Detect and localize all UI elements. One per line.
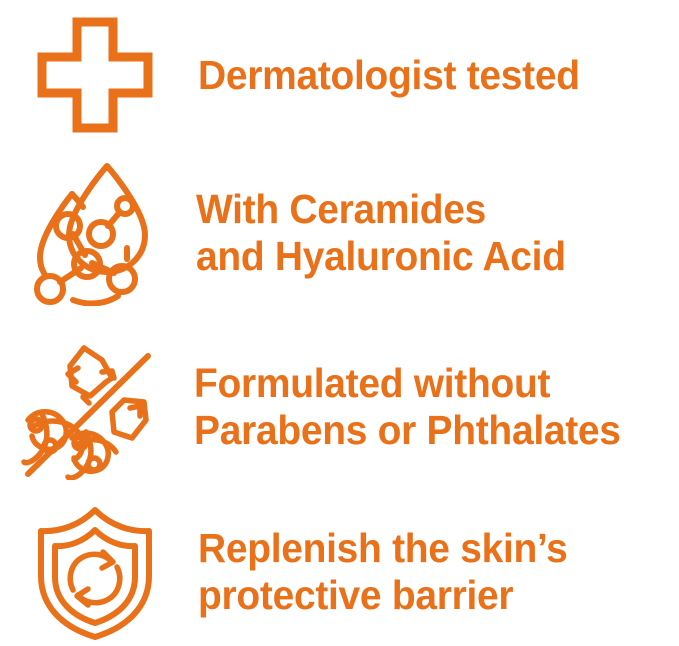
feature-row-formulated: Formulated without Parabens or Phthalate… bbox=[0, 322, 679, 492]
feature-row-barrier: Replenish the skin’s protective barrier bbox=[0, 497, 679, 646]
icon-slot-ceramides bbox=[0, 160, 190, 306]
feature-row-ceramides: With Ceramides and Hyaluronic Acid bbox=[0, 150, 679, 315]
icon-slot-formulated bbox=[0, 334, 190, 480]
medical-cross-icon bbox=[36, 16, 154, 134]
feature-label-ceramides: With Ceramides and Hyaluronic Acid bbox=[196, 186, 655, 280]
droplet-molecule-icon bbox=[28, 160, 162, 306]
feature-label-barrier: Replenish the skin’s protective barrier bbox=[198, 525, 655, 619]
feature-label-dermatologist: Dermatologist tested bbox=[198, 52, 655, 99]
icon-slot-dermatologist bbox=[0, 16, 190, 134]
feature-row-dermatologist: Dermatologist tested bbox=[0, 0, 679, 150]
icon-slot-barrier bbox=[0, 504, 190, 640]
no-chemicals-crossed-out-icon bbox=[20, 334, 170, 480]
shield-renewal-icon bbox=[33, 504, 157, 640]
feature-label-formulated: Formulated without Parabens or Phthalate… bbox=[194, 360, 655, 454]
feature-benefits-panel: Dermatologist tested bbox=[0, 0, 679, 646]
